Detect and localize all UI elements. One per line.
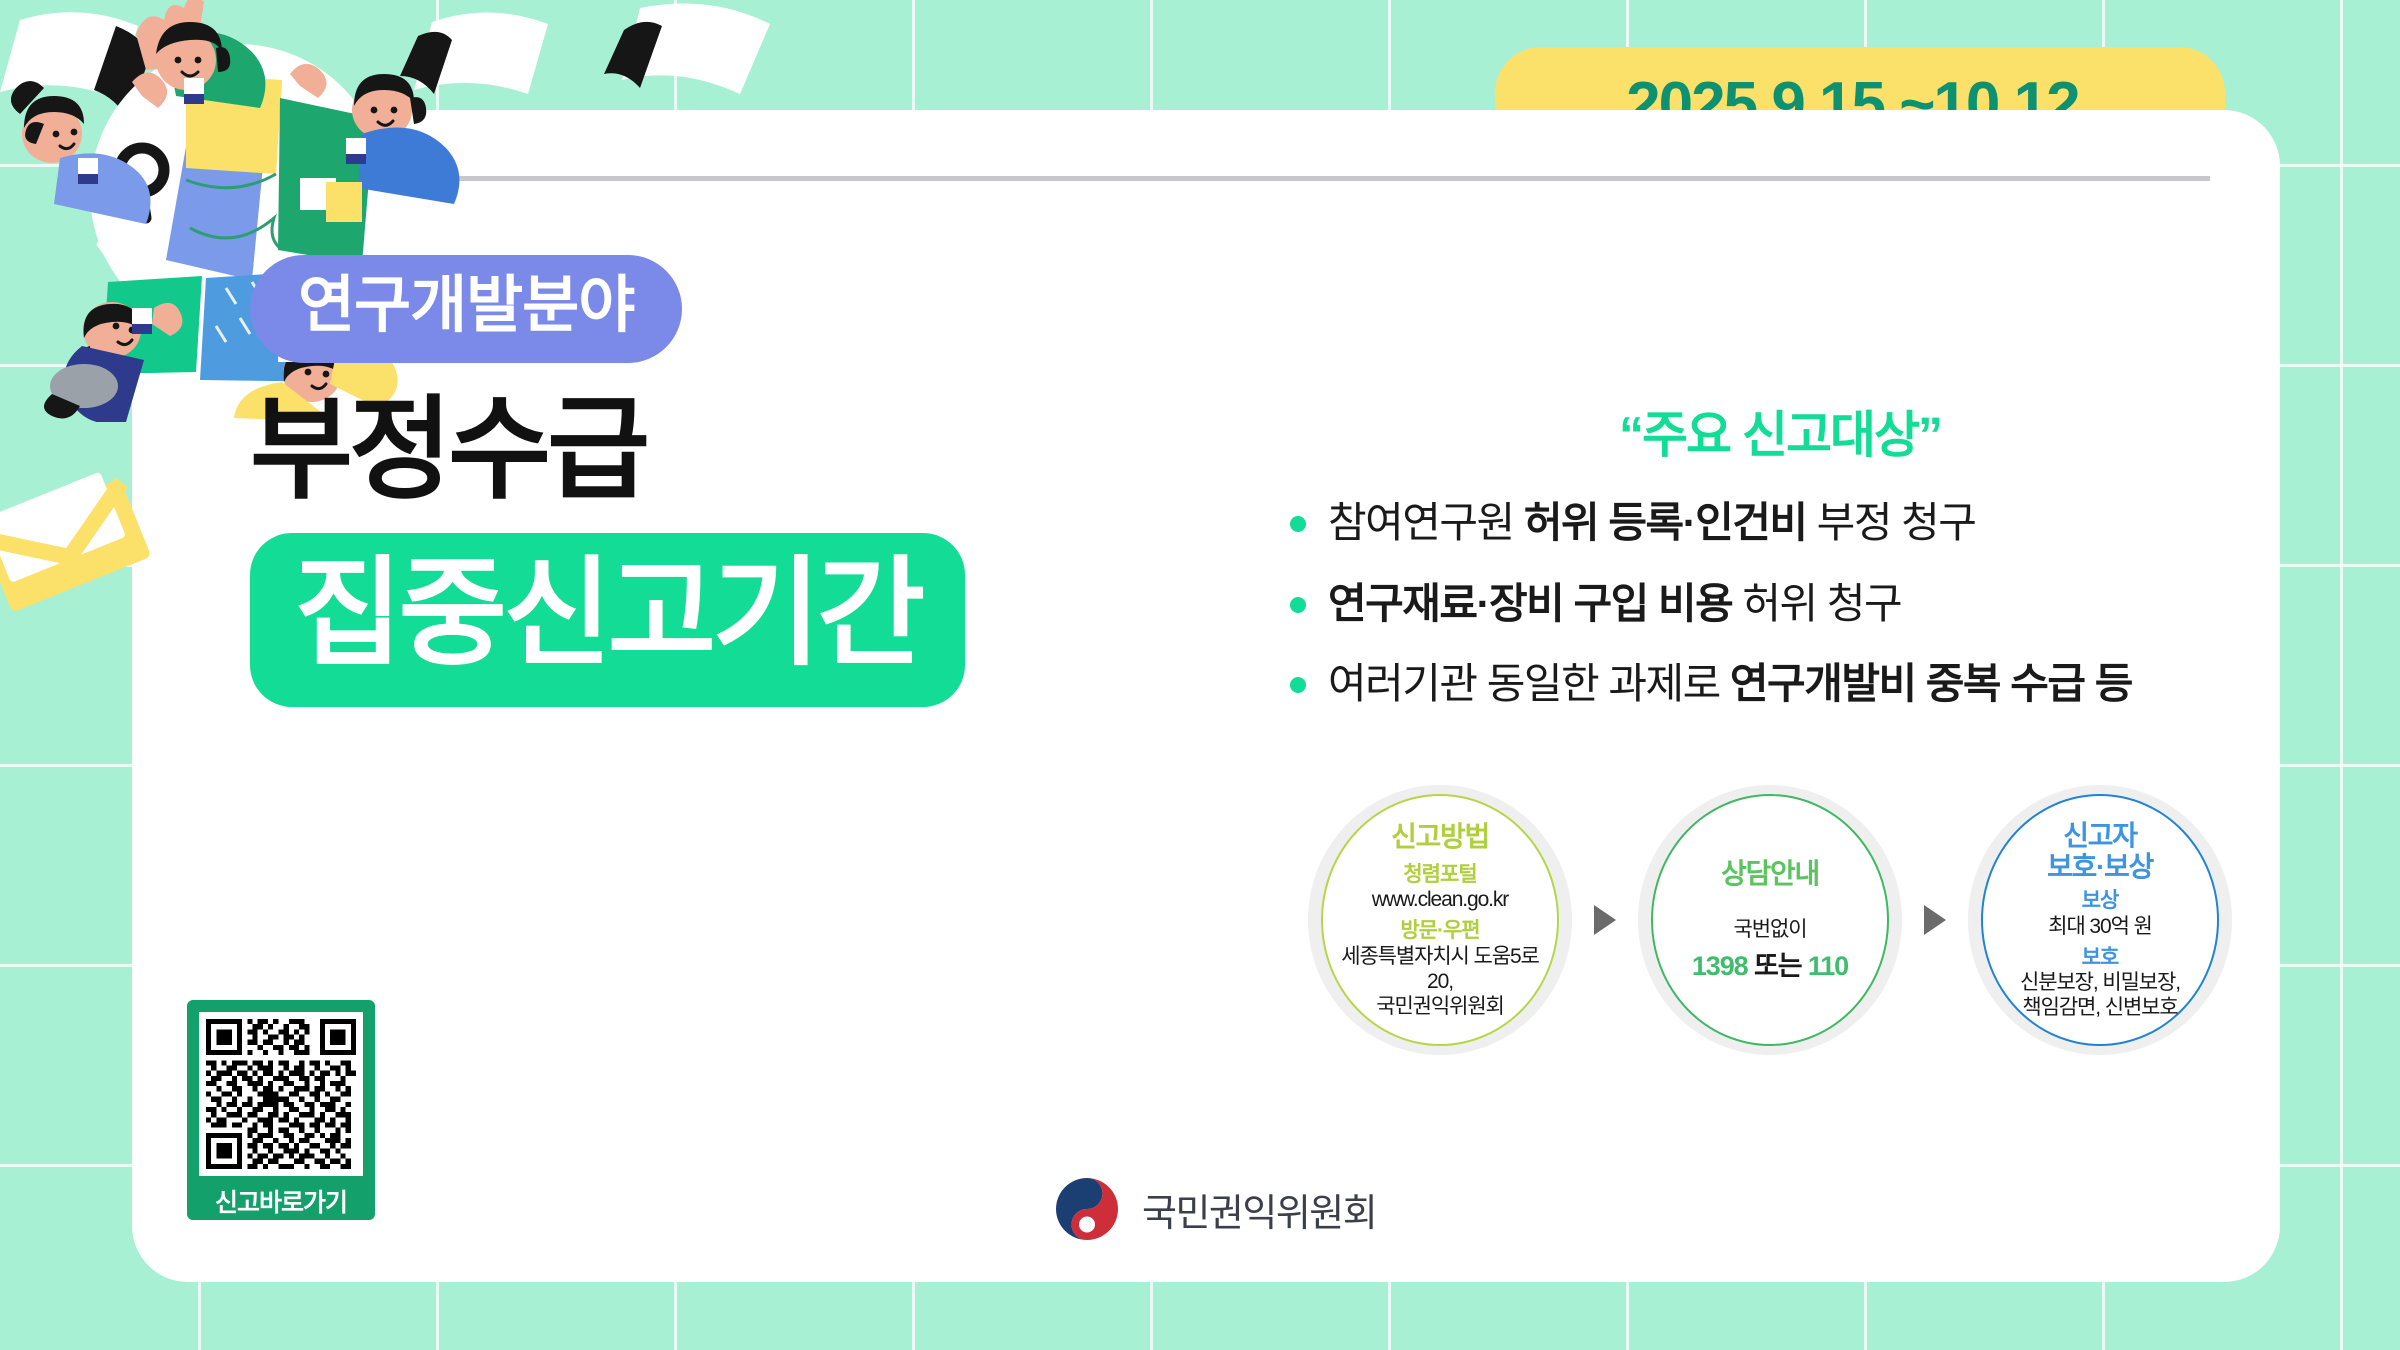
qr-report-shortcut[interactable]: 신고바로가기 [187,1000,375,1220]
bullet-dot-icon [1290,597,1306,613]
step-line: www.clean.go.kr [1372,887,1508,912]
process-flow: 신고방법 청렴포털 www.clean.go.kr 방문·우편 세종특별자치시 … [1300,770,2260,1070]
flow-step-protection-reward: 신고자 보호·보상 보상 최대 30억 원 보호 신분보장, 비밀보장, 책임감… [1960,775,2240,1065]
page-title: 부정수급 [250,393,1030,507]
bullet-dot-icon [1290,677,1306,693]
qr-code-icon [199,1012,363,1176]
headline-column: 연구개발분야 부정수급 집중신고기간 [250,255,1030,707]
step-line: 국번없이 [1734,917,1807,942]
taegeuk-logo-icon [1050,1172,1124,1246]
step-title: 신고방법 [1391,821,1489,852]
circle-card: 상담안내 국번없이 1398 또는 110 [1651,794,1889,1046]
step-line: 보상 [2082,889,2119,913]
target-text-2: 연구재료·장비 구입 비용 허위 청구 [1328,578,1901,631]
step-title: 상담안내 [1721,858,1819,889]
step-line-phone: 1398 또는 110 [1692,950,1848,982]
step-line: 청렴포털 [1403,863,1476,887]
step-line: 신분보장, 비밀보장, [2020,970,2180,995]
target-text-3: 여러기관 동일한 과제로 연구개발비 중복 수급 등 [1328,658,2132,711]
flow-step-report-method: 신고방법 청렴포털 www.clean.go.kr 방문·우편 세종특별자치시 … [1300,775,1580,1065]
flow-step-consultation: 상담안내 국번없이 1398 또는 110 [1630,775,1910,1065]
targets-title: “주요 신고대상” [1290,395,2270,467]
bullet-dot-icon [1290,516,1306,532]
qr-label: 신고바로가기 [215,1183,347,1219]
step-line: 보호 [2082,946,2119,970]
organization-name: 국민권익위원회 [1142,1182,1376,1237]
list-item: 참여연구원 허위 등록·인건비 부정 청구 [1290,497,2270,550]
list-item: 연구재료·장비 구입 비용 허위 청구 [1290,578,2270,631]
step-line: 세종특별자치시 도움5로 20, [1329,944,1551,994]
step-line: 최대 30억 원 [2048,914,2152,939]
list-item: 여러기관 동일한 과제로 연구개발비 중복 수급 등 [1290,658,2270,711]
envelope-decoration [0,440,170,640]
footer-logo: 국민권익위원회 [1050,1172,1376,1246]
step-line: 책임감면, 신변보호 [2022,995,2177,1020]
step-line: 국민권익위원회 [1376,994,1504,1019]
step-line: 방문·우편 [1400,919,1479,943]
triangle-right-icon [1580,905,1630,935]
period-pill: 집중신고기간 [250,533,965,707]
step-title-line2: 보호·보상 [2047,851,2153,882]
step-title-line1: 신고자 [2063,820,2136,851]
category-pill: 연구개발분야 [250,255,682,363]
circle-card: 신고자 보호·보상 보상 최대 30억 원 보호 신분보장, 비밀보장, 책임감… [1981,794,2219,1046]
target-text-1: 참여연구원 허위 등록·인건비 부정 청구 [1328,497,1975,550]
circle-card: 신고방법 청렴포털 www.clean.go.kr 방문·우편 세종특별자치시 … [1321,794,1559,1046]
report-targets-column: “주요 신고대상” 참여연구원 허위 등록·인건비 부정 청구 연구재료·장비 … [1290,395,2270,739]
triangle-right-icon [1910,905,1960,935]
